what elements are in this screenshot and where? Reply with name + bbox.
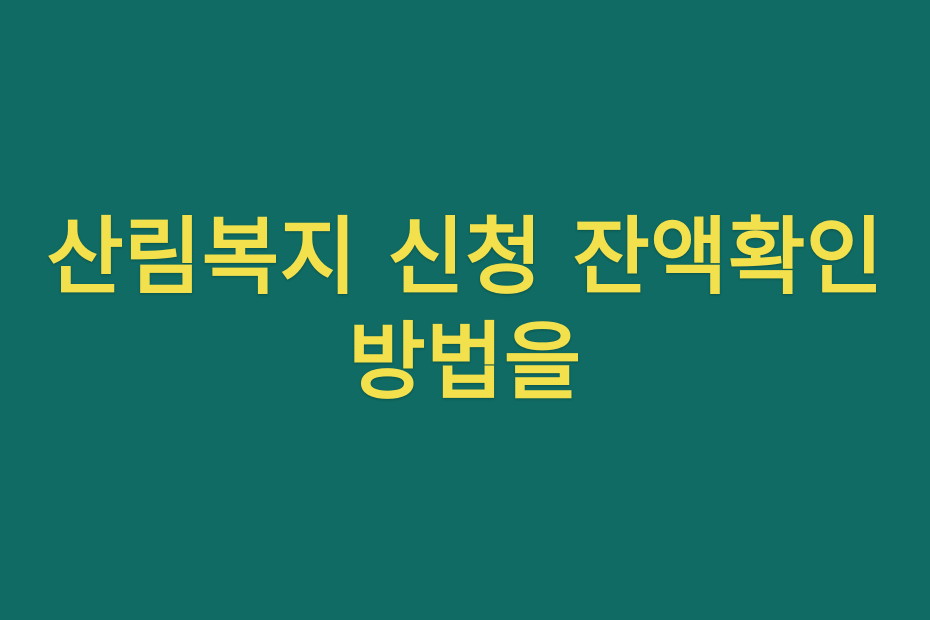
page-title: 산림복지 신청 잔액확인 방법을 [0, 205, 930, 415]
poster-canvas: 산림복지 신청 잔액확인 방법을 [0, 0, 930, 620]
headline-line-2: 방법을 [40, 310, 890, 415]
headline-line-1: 산림복지 신청 잔액확인 [40, 205, 890, 310]
